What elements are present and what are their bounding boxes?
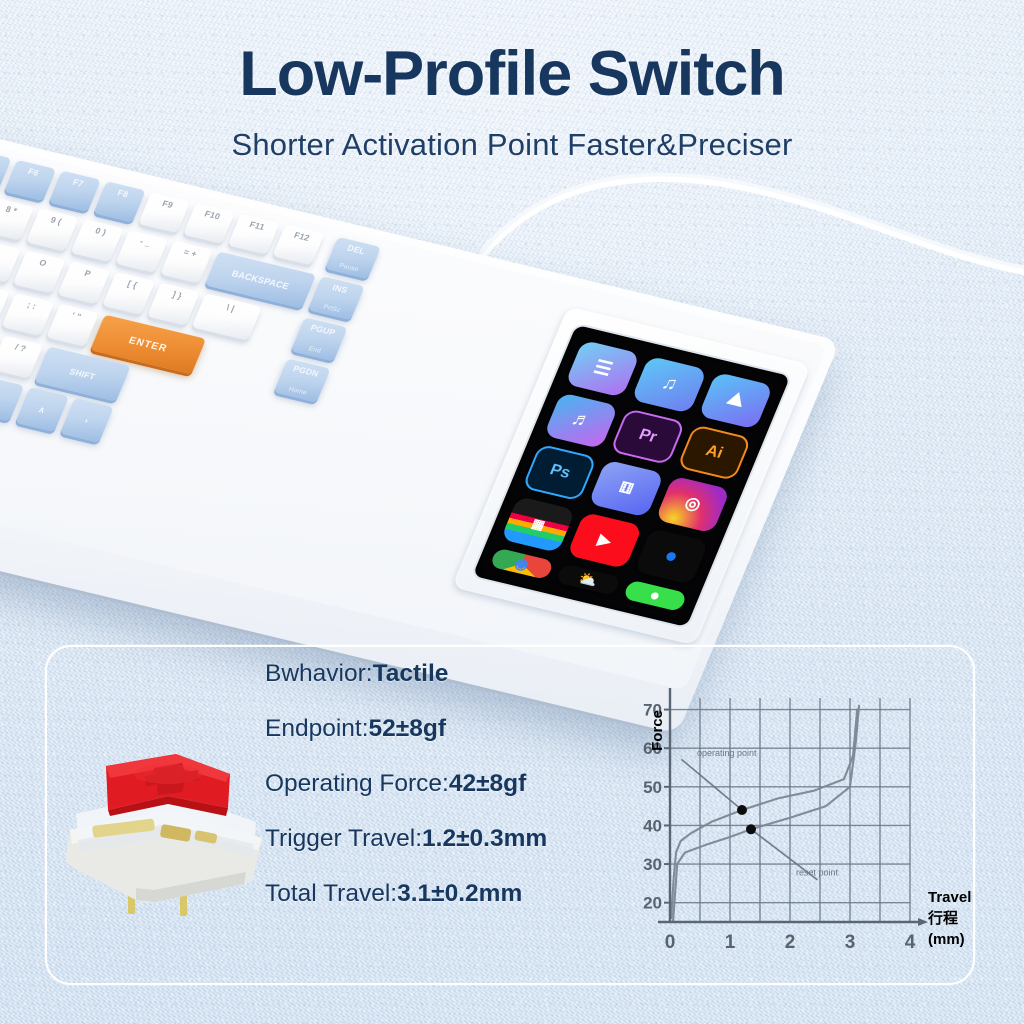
key-semicolon[interactable]: ; : <box>2 293 55 336</box>
svg-text:4: 4 <box>905 932 916 953</box>
key-f6[interactable]: F6 <box>4 160 56 201</box>
key-ins[interactable]: INSPrtSc <box>308 276 365 320</box>
touchscreen-display[interactable]: ☰ ♫ ⛰ ♬ Pr Ai Ps ⚅ ◎ ▦ ▶ ● ◉ ⛅ ● <box>473 325 791 627</box>
spec-row-trigger-travel: Trigger Travel:1.2±0.3mm <box>265 825 615 853</box>
x-axis-label: Travel <box>928 889 971 906</box>
x-axis-label-cn: 行程 <box>927 909 958 927</box>
music-app-icon[interactable]: ♫ <box>631 356 707 413</box>
key-del[interactable]: DELPause <box>325 237 381 279</box>
key-quote[interactable]: ' " <box>46 304 99 347</box>
key-o[interactable]: O <box>13 251 66 294</box>
operating-point-marker <box>737 805 747 815</box>
weather-app-icon[interactable]: ⛅ <box>556 563 621 596</box>
key-arrow-right[interactable]: › <box>60 398 114 443</box>
key-pgdn[interactable]: PGDNHome <box>274 358 331 402</box>
key-pgup[interactable]: PGUPEnd <box>291 317 348 361</box>
spec-list: Bwhavior:Tactile Endpoint:52±8gf Operati… <box>265 660 615 935</box>
svg-text:50: 50 <box>643 778 662 797</box>
instagram-app-icon[interactable]: ◎ <box>655 476 731 533</box>
spec-value-operating-force: 42±8gf <box>449 770 526 797</box>
spec-label-behavior: Bwhavior: <box>265 660 373 687</box>
svg-text:1: 1 <box>725 932 736 953</box>
key-f7[interactable]: F7 <box>49 171 101 212</box>
chart-grid <box>670 698 910 922</box>
key-0[interactable]: 0 ) <box>71 219 124 262</box>
photos-app-icon[interactable]: ⛰ <box>698 372 774 429</box>
discord-app-icon[interactable]: ⚅ <box>588 460 664 517</box>
mixer-app-icon[interactable]: ☰ <box>565 340 641 397</box>
chart-annotation: reset point <box>796 868 839 878</box>
spec-label-trigger-travel: Trigger Travel: <box>265 825 422 852</box>
premiere-app-icon[interactable]: Pr <box>610 408 686 465</box>
facebook-app-icon[interactable]: ● <box>633 528 709 585</box>
keyboard-deck: F3 F4 F5 F6 F7 F8 F9 F10 F11 F12 DELPaus… <box>0 117 827 690</box>
page-title: Low-Profile Switch <box>0 38 1024 110</box>
key-arrow-up[interactable]: ∧ <box>15 387 69 432</box>
spec-row-operating-force: Operating Force:42±8gf <box>265 770 615 798</box>
key-equal[interactable]: = + <box>160 241 213 284</box>
touchscreen-module: ☰ ♫ ⛰ ♬ Pr Ai Ps ⚅ ◎ ▦ ▶ ● ◉ ⛅ ● <box>452 306 811 645</box>
key-bracket-left[interactable]: [ { <box>102 272 155 315</box>
svg-text:3: 3 <box>845 932 856 953</box>
svg-text:2: 2 <box>785 932 796 953</box>
svg-text:20: 20 <box>643 894 662 913</box>
key-f11[interactable]: F11 <box>228 214 280 255</box>
key-9[interactable]: 9 ( <box>26 208 79 251</box>
key-bracket-right[interactable]: ] } <box>147 283 200 326</box>
key-slash[interactable]: / ? <box>0 336 43 379</box>
key-f10[interactable]: F10 <box>183 203 235 244</box>
headphones-app-icon[interactable]: ♬ <box>544 392 620 449</box>
key-f9[interactable]: F9 <box>138 192 190 233</box>
youtube-app-icon[interactable]: ▶ <box>567 512 643 569</box>
spec-row-endpoint: Endpoint:52±8gf <box>265 715 615 743</box>
key-p[interactable]: P <box>57 261 110 304</box>
spec-label-endpoint: Endpoint: <box>265 715 369 742</box>
spec-label-operating-force: Operating Force: <box>265 770 449 797</box>
svg-text:0: 0 <box>665 932 676 953</box>
key-minus[interactable]: - _ <box>115 230 168 273</box>
spec-value-endpoint: 52±8gf <box>369 715 446 742</box>
reset-point-marker <box>746 824 756 834</box>
key-f8[interactable]: F8 <box>94 181 146 222</box>
chart-tick-labels: 20304050607001234 <box>643 701 916 953</box>
switch-photo <box>58 752 273 932</box>
page-subtitle: Shorter Activation Point Faster&Preciser <box>0 127 1024 163</box>
y-axis-label: Force <box>649 710 666 751</box>
spec-row-behavior: Bwhavior:Tactile <box>265 660 615 688</box>
chart-annotation: operating point <box>697 748 757 758</box>
spec-label-total-travel: Total Travel: <box>265 880 397 907</box>
illustrator-app-icon[interactable]: Ai <box>676 424 752 481</box>
spec-value-behavior: Tactile <box>373 660 449 687</box>
photoshop-app-icon[interactable]: Ps <box>522 444 598 501</box>
spec-row-total-travel: Total Travel:3.1±0.2mm <box>265 880 615 908</box>
x-axis-arrow <box>918 918 928 926</box>
spec-value-trigger-travel: 1.2±0.3mm <box>422 825 547 852</box>
key-f12[interactable]: F12 <box>272 224 324 265</box>
key-backslash[interactable]: \ | <box>192 293 262 340</box>
force-travel-chart: operating pointreset point 2030405060700… <box>628 680 978 970</box>
messages-app-icon[interactable]: ● <box>622 579 687 612</box>
finalcut-app-icon[interactable]: ▦ <box>500 496 576 553</box>
svg-text:30: 30 <box>643 855 662 874</box>
svg-text:40: 40 <box>643 816 662 835</box>
x-axis-unit: (mm) <box>928 931 965 948</box>
spec-value-total-travel: 3.1±0.2mm <box>397 880 522 907</box>
keyboard-photo: F3 F4 F5 F6 F7 F8 F9 F10 F11 F12 DELPaus… <box>0 120 860 660</box>
chrome-app-icon[interactable]: ◉ <box>489 548 554 581</box>
